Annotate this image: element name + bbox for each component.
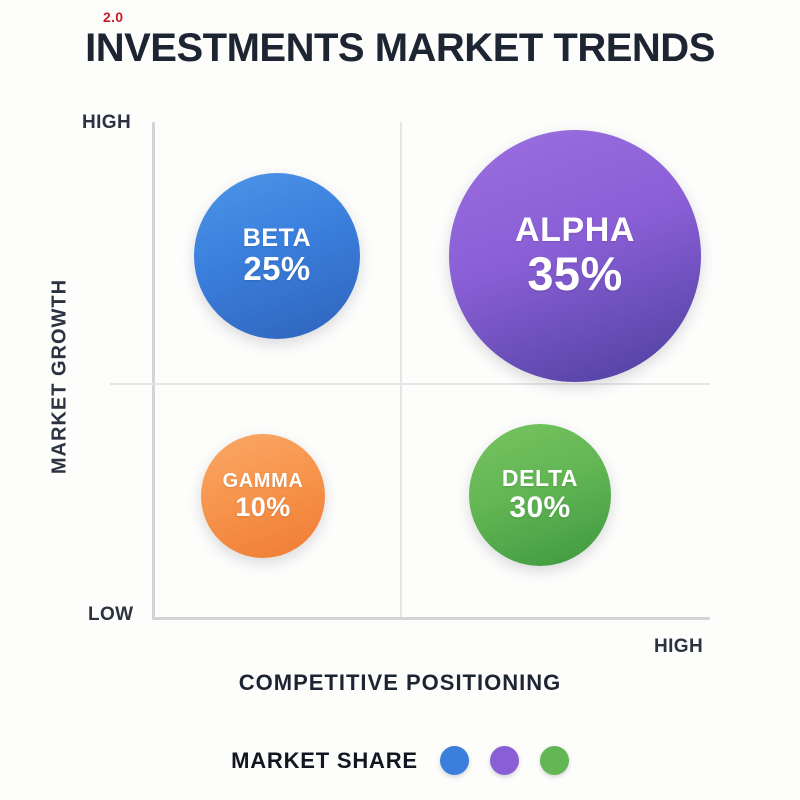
bubble-delta[interactable]: DELTA 30% bbox=[469, 424, 611, 566]
quadrant-horizontal-divider bbox=[110, 383, 710, 385]
legend-blue-dot[interactable] bbox=[440, 746, 469, 775]
legend-purple-dot[interactable] bbox=[490, 746, 519, 775]
x-axis-line bbox=[152, 617, 710, 620]
legend-green-dot[interactable] bbox=[540, 746, 569, 775]
bubble-beta-value: 25% bbox=[243, 252, 310, 286]
bubble-gamma-label: GAMMA bbox=[223, 471, 304, 492]
legend: MARKET SHARE bbox=[0, 746, 800, 775]
bubble-alpha[interactable]: ALPHA 35% bbox=[449, 130, 701, 382]
bubble-gamma[interactable]: GAMMA 10% bbox=[201, 434, 325, 558]
x-axis-title: COMPETITIVE POSITIONING bbox=[0, 670, 800, 696]
legend-swatches bbox=[440, 746, 569, 775]
version-badge: 2.0 bbox=[103, 9, 123, 25]
bubble-chart-canvas: 2.0 INVESTMENTS MARKET TRENDS HIGH LOW H… bbox=[0, 0, 800, 800]
bubble-delta-label: DELTA bbox=[502, 467, 578, 491]
x-axis-high-label: HIGH bbox=[654, 636, 703, 658]
y-axis-title: MARKET GROWTH bbox=[49, 247, 72, 507]
bubble-alpha-value: 35% bbox=[527, 250, 622, 299]
chart-title: INVESTMENTS MARKET TRENDS bbox=[0, 26, 800, 71]
bubble-delta-value: 30% bbox=[509, 492, 570, 523]
bubble-gamma-value: 10% bbox=[235, 493, 290, 521]
y-axis-high-label: HIGH bbox=[82, 112, 131, 134]
y-axis-low-label: LOW bbox=[88, 604, 134, 626]
bubble-alpha-label: ALPHA bbox=[515, 213, 635, 248]
bubble-beta[interactable]: BETA 25% bbox=[194, 173, 360, 339]
quadrant-vertical-divider bbox=[400, 122, 402, 617]
y-axis-line bbox=[152, 122, 155, 620]
legend-title: MARKET SHARE bbox=[231, 748, 418, 774]
bubble-beta-label: BETA bbox=[243, 225, 312, 251]
